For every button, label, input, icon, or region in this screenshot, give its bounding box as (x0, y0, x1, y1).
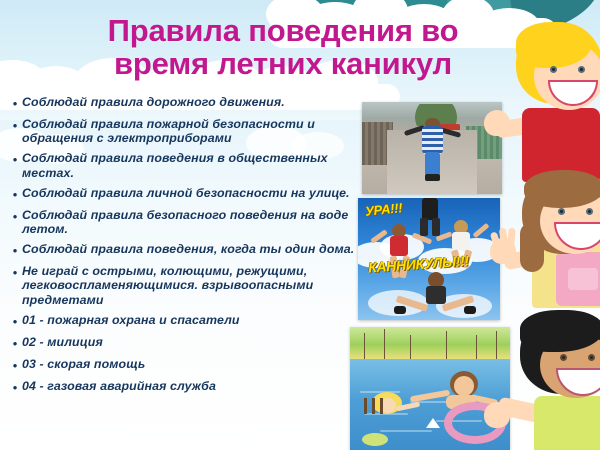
list-item-label: 04 - газовая аварийная служба (22, 379, 360, 393)
list-item-street-safety: • Соблюдай правила личной безопасности н… (8, 186, 360, 202)
bullet-marker-icon: • (8, 208, 22, 224)
title-line-1: Правила поведения во (48, 14, 518, 47)
jumping-kid-upside-down (416, 198, 446, 238)
jumping-boy-splits (398, 272, 472, 320)
list-item-water-safety: • Соблюдай правила безопасного поведения… (8, 208, 360, 236)
list-item-label: Соблюдай правила безопасного поведения н… (22, 208, 360, 236)
boy-blond-left-eye (550, 66, 557, 73)
paper-boat-icon (426, 418, 440, 428)
rules-list: • Соблюдай правила дорожного движения. •… (8, 95, 360, 401)
list-item-label: 02 - милиция (22, 335, 360, 349)
skater-rollerblades (425, 174, 440, 181)
photo-swimming (350, 327, 510, 450)
girl-left-eye (558, 208, 565, 215)
list-item-label: Не играй с острыми, колющими, режущими, … (22, 264, 360, 307)
girl-fringe (524, 170, 600, 208)
bullet-marker-icon: • (8, 335, 22, 351)
reed-shapes (364, 398, 386, 414)
skater-striped-shirt (422, 126, 443, 154)
list-item-phone-03: • 03 - скорая помощь (8, 357, 360, 373)
bullet-marker-icon: • (8, 186, 22, 202)
boy-dark-left-eye (560, 354, 567, 361)
lily-pad-shape (362, 433, 388, 446)
boy-dark-fringe (520, 310, 600, 352)
cartoon-kids-group (488, 0, 600, 450)
list-item-label: 01 - пожарная охрана и спасатели (22, 313, 360, 327)
character-boy-dark (504, 310, 600, 450)
bullet-marker-icon: • (8, 379, 22, 395)
skater-shorts (425, 152, 440, 176)
list-item-phone-01: • 01 - пожарная охрана и спасатели (8, 313, 360, 329)
title-line-2: время летних каникул (48, 47, 518, 80)
bullet-marker-icon: • (8, 151, 22, 167)
slide-canvas: Правила поведения во время летних канику… (0, 0, 600, 450)
bullet-marker-icon: • (8, 117, 22, 133)
photo-jumping: УРА!!! КАННИКУЛЫ!!! (358, 198, 500, 320)
list-item-label: Соблюдай правила поведения, когда ты оди… (22, 242, 360, 256)
boy-dark-right-eye (588, 354, 595, 361)
list-item-label: Соблюдай правила пожарной безопасности и… (22, 117, 360, 145)
boy-dark-shirt (534, 396, 600, 450)
list-item-label: 03 - скорая помощь (22, 357, 360, 371)
list-item-fire-safety: • Соблюдай правила пожарной безопасности… (8, 117, 360, 145)
slide-title: Правила поведения во время летних канику… (48, 14, 518, 80)
list-item-label: Соблюдай правила личной безопасности на … (22, 186, 360, 200)
list-item-dangerous-items: • Не играй с острыми, колющими, режущими… (8, 264, 360, 307)
bullet-marker-icon: • (8, 264, 22, 280)
photo-label-hooray: УРА!!! (364, 200, 403, 219)
list-item-traffic-rules: • Соблюдай правила дорожного движения. (8, 95, 360, 111)
bullet-marker-icon: • (8, 357, 22, 373)
list-item-phone-04: • 04 - газовая аварийная служба (8, 379, 360, 395)
list-item-label: Соблюдай правила дорожного движения. (22, 95, 360, 109)
list-item-home-alone: • Соблюдай правила поведения, когда ты о… (8, 242, 360, 258)
boy-dark-left-hand (484, 402, 510, 428)
boy-blond-left-hand (484, 110, 510, 136)
meadow-bank (350, 327, 510, 359)
list-item-public-places: • Соблюдай правила поведения в обществен… (8, 151, 360, 179)
girl-pink-pocket (568, 268, 598, 290)
girl-right-eye (586, 208, 593, 215)
bullet-marker-icon: • (8, 313, 22, 329)
list-item-label: Соблюдай правила поведения в общественны… (22, 151, 360, 179)
bullet-marker-icon: • (8, 242, 22, 258)
boy-blond-right-eye (578, 66, 585, 73)
photo-rollerblading (362, 102, 502, 194)
list-item-phone-02: • 02 - милиция (8, 335, 360, 351)
bullet-marker-icon: • (8, 95, 22, 111)
